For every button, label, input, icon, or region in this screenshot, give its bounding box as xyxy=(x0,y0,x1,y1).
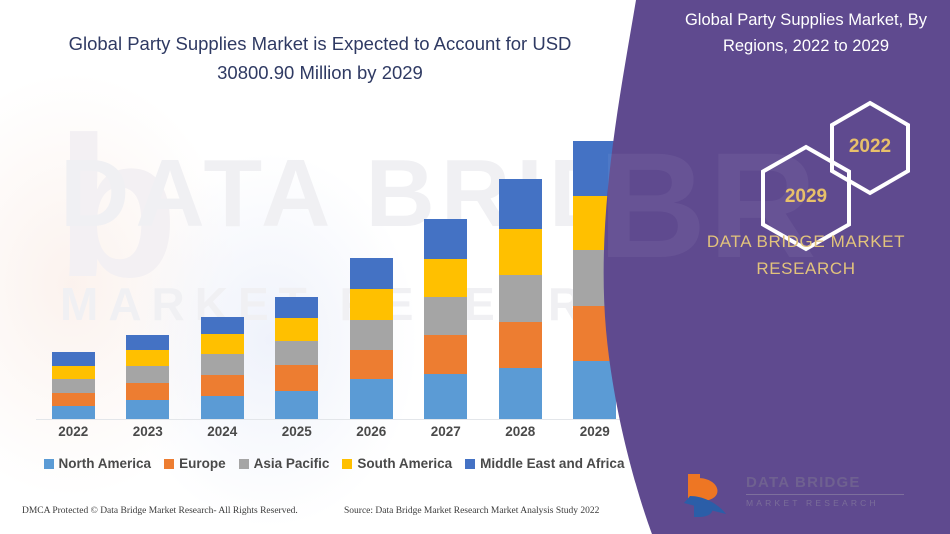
logo-divider xyxy=(746,494,904,495)
bar-segment xyxy=(275,341,318,365)
bar-segment xyxy=(499,368,542,420)
panel-title: Global Party Supplies Market, By Regions… xyxy=(668,8,944,59)
bar-segment xyxy=(350,379,393,420)
footer-copyright: DMCA Protected © Data Bridge Market Rese… xyxy=(22,506,298,516)
x-axis-line xyxy=(36,419,632,420)
legend-item[interactable]: South America xyxy=(342,456,452,471)
x-axis-label: 2025 xyxy=(260,424,334,439)
bar-segment xyxy=(126,350,169,366)
bar-column xyxy=(483,100,557,420)
purple-panel-content: BR Global Party Supplies Market, By Regi… xyxy=(660,0,950,534)
bar-segment xyxy=(424,259,467,297)
bar-segment xyxy=(275,318,318,341)
bar-segment xyxy=(52,379,95,393)
bar-segment xyxy=(52,406,95,420)
stacked-bar xyxy=(424,219,467,420)
bar-column xyxy=(260,100,334,420)
legend-swatch-icon xyxy=(44,459,54,469)
x-axis-label: 2024 xyxy=(185,424,259,439)
bar-segment xyxy=(126,366,169,383)
chart-pane: b DATA BRIDGE MARKET RESEARCH Global Par… xyxy=(0,0,660,534)
legend-label: South America xyxy=(357,456,452,471)
bar-segment xyxy=(499,179,542,229)
bar-segment xyxy=(350,350,393,379)
company-logo: DATA BRIDGE MARKET RESEARCH xyxy=(680,468,940,522)
bar-segment xyxy=(573,361,616,420)
legend-swatch-icon xyxy=(164,459,174,469)
chart-title: Global Party Supplies Market is Expected… xyxy=(40,30,600,87)
x-axis-labels: 20222023202420252026202720282029 xyxy=(36,424,632,439)
bar-segment xyxy=(201,334,244,354)
x-axis-label: 2022 xyxy=(36,424,110,439)
bar-segment xyxy=(201,317,244,334)
stacked-bar xyxy=(275,297,318,420)
bar-segment xyxy=(350,320,393,350)
bar-segment xyxy=(52,393,95,406)
bar-segment xyxy=(275,391,318,420)
bar-column xyxy=(36,100,110,420)
bar-segment xyxy=(201,396,244,420)
bar-segment xyxy=(275,297,318,318)
bar-segment xyxy=(201,375,244,396)
legend-swatch-icon xyxy=(342,459,352,469)
hexagon-badges: 2029 2022 xyxy=(690,110,920,220)
bar-segment xyxy=(52,352,95,366)
bar-segment xyxy=(424,297,467,335)
x-axis-label: 2028 xyxy=(483,424,557,439)
brand-name: DATA BRIDGE MARKET RESEARCH xyxy=(670,228,942,282)
bar-segment xyxy=(499,229,542,275)
hexagon-2022: 2022 xyxy=(824,98,916,198)
bar-column xyxy=(334,100,408,420)
legend-swatch-icon xyxy=(239,459,249,469)
bar-segment xyxy=(350,289,393,320)
legend-label: Asia Pacific xyxy=(254,456,330,471)
bar-segment xyxy=(350,258,393,289)
logo-sub-text: MARKET RESEARCH xyxy=(746,498,904,508)
bar-segment xyxy=(499,322,542,368)
chart-legend: North AmericaEuropeAsia PacificSouth Ame… xyxy=(36,456,632,471)
bar-segment xyxy=(424,335,467,374)
data-bridge-b-icon xyxy=(680,470,738,518)
legend-label: North America xyxy=(59,456,152,471)
bar-column xyxy=(409,100,483,420)
x-axis-label: 2027 xyxy=(409,424,483,439)
bar-segment xyxy=(201,354,244,375)
x-axis-label: 2029 xyxy=(558,424,632,439)
stacked-bar xyxy=(52,352,95,420)
bar-segment xyxy=(52,366,95,379)
legend-swatch-icon xyxy=(465,459,475,469)
legend-item[interactable]: North America xyxy=(44,456,152,471)
bar-segment xyxy=(424,374,467,420)
hexagon-2022-label: 2022 xyxy=(824,136,916,158)
bar-segment xyxy=(424,219,467,259)
legend-item[interactable]: Middle East and Africa xyxy=(465,456,624,471)
infographic-canvas: b DATA BRIDGE MARKET RESEARCH Global Par… xyxy=(0,0,950,534)
x-axis-label: 2026 xyxy=(334,424,408,439)
bar-column xyxy=(111,100,185,420)
brand-line-1: DATA BRIDGE MARKET xyxy=(670,228,942,255)
bar-group xyxy=(36,100,632,420)
stacked-bar xyxy=(126,335,169,420)
chart-plot-area xyxy=(36,100,632,420)
bar-segment xyxy=(126,400,169,420)
bar-segment xyxy=(499,275,542,322)
bar-segment xyxy=(126,383,169,400)
bar-segment xyxy=(573,306,616,361)
footer-source: Source: Data Bridge Market Research Mark… xyxy=(344,506,599,516)
brand-line-2: RESEARCH xyxy=(670,255,942,282)
legend-label: Europe xyxy=(179,456,226,471)
legend-item[interactable]: Asia Pacific xyxy=(239,456,330,471)
legend-item[interactable]: Europe xyxy=(164,456,226,471)
x-axis-label: 2023 xyxy=(111,424,185,439)
logo-text: DATA BRIDGE MARKET RESEARCH xyxy=(746,474,904,508)
footer: DMCA Protected © Data Bridge Market Rese… xyxy=(0,506,660,530)
stacked-bar xyxy=(201,317,244,420)
logo-main-text: DATA BRIDGE xyxy=(746,474,904,491)
legend-label: Middle East and Africa xyxy=(480,456,624,471)
stacked-bar xyxy=(350,258,393,420)
bar-segment xyxy=(275,365,318,391)
bar-segment xyxy=(126,335,169,350)
stacked-bar xyxy=(499,179,542,420)
bar-column xyxy=(185,100,259,420)
